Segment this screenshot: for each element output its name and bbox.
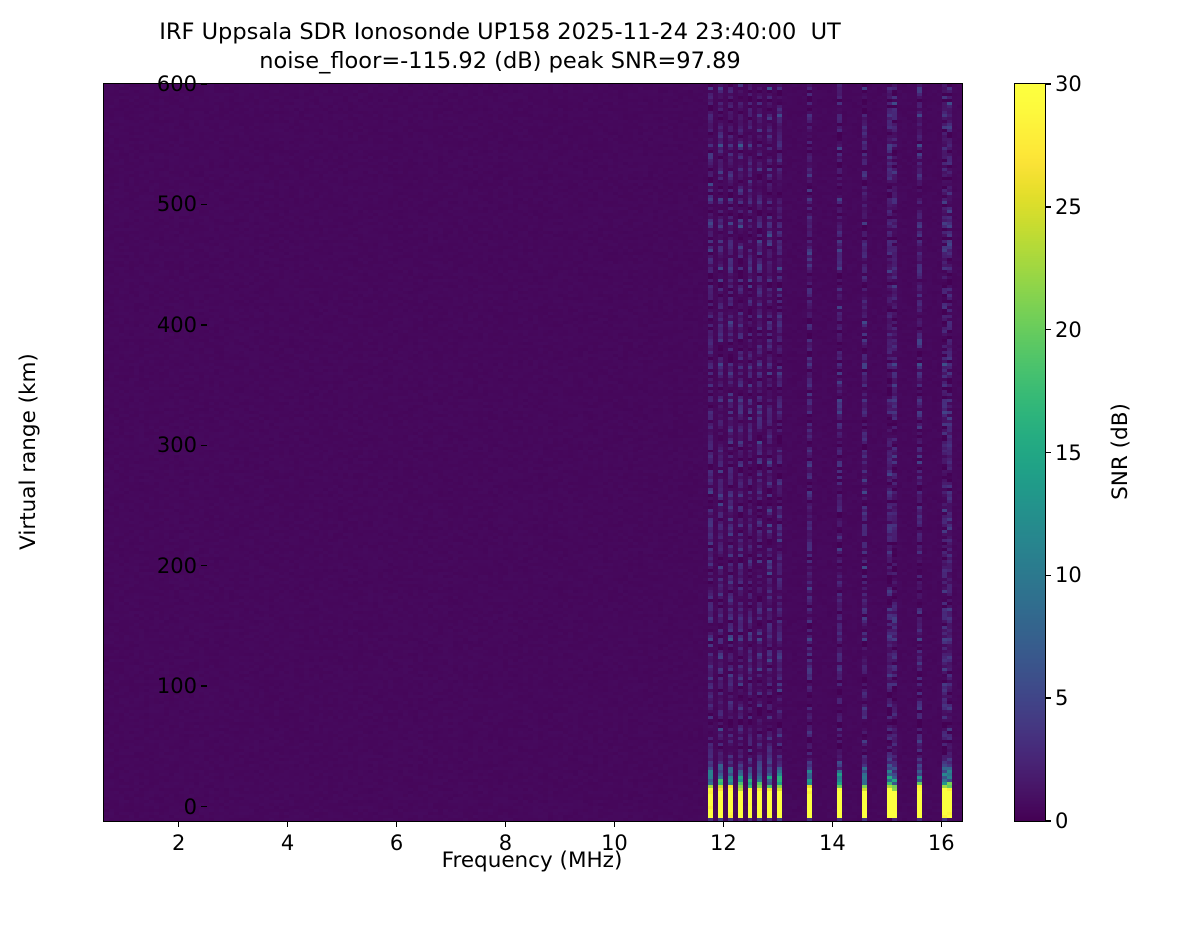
colorbar-gradient xyxy=(1015,84,1045,821)
y-tick-label: 100 xyxy=(157,672,197,700)
x-tick-mark xyxy=(396,821,397,827)
colorbar-tick-mark xyxy=(1045,697,1051,698)
colorbar-tick-label: 20 xyxy=(1055,316,1082,344)
colorbar-tick-label: 0 xyxy=(1055,807,1068,835)
x-tick-mark xyxy=(287,821,288,827)
colorbar[interactable]: 051015202530 xyxy=(1014,83,1046,822)
colorbar-tick-mark xyxy=(1045,452,1051,453)
y-tick-label: 300 xyxy=(157,431,197,459)
x-tick-mark xyxy=(614,821,615,827)
y-tick-mark xyxy=(201,445,207,446)
y-tick-label: 400 xyxy=(157,311,197,339)
y-tick-mark xyxy=(201,806,207,807)
colorbar-tick-mark xyxy=(1045,206,1051,207)
ionogram-figure: IRF Uppsala SDR Ionosonde UP158 2025-11-… xyxy=(0,0,1200,900)
colorbar-tick-label: 30 xyxy=(1055,70,1082,98)
figure-title: IRF Uppsala SDR Ionosonde UP158 2025-11-… xyxy=(0,18,1000,77)
x-tick-mark xyxy=(832,821,833,827)
colorbar-tick-mark xyxy=(1045,329,1051,330)
colorbar-tick-mark xyxy=(1045,83,1051,84)
x-tick-mark xyxy=(505,821,506,827)
ionogram-heatmap[interactable] xyxy=(104,84,962,821)
y-tick-label: 500 xyxy=(157,190,197,218)
y-tick-mark xyxy=(201,324,207,325)
x-axis-label: Frequency (MHz) xyxy=(103,848,961,873)
colorbar-label: SNR (dB) xyxy=(1106,83,1136,820)
y-axis-ticks: 0100200300400500600 xyxy=(104,84,207,821)
colorbar-tick-mark xyxy=(1045,575,1051,576)
colorbar-tick-mark xyxy=(1045,820,1051,821)
y-tick-label: 200 xyxy=(157,552,197,580)
colorbar-tick-label: 25 xyxy=(1055,193,1082,221)
x-tick-mark xyxy=(941,821,942,827)
title-line-1: IRF Uppsala SDR Ionosonde UP158 2025-11-… xyxy=(0,18,1000,47)
y-tick-mark xyxy=(201,565,207,566)
y-tick-mark xyxy=(201,204,207,205)
x-axis-ticks: 246810121416 xyxy=(104,821,962,941)
x-tick-mark xyxy=(178,821,179,827)
y-tick-label: 0 xyxy=(184,793,197,821)
y-tick-mark xyxy=(201,685,207,686)
title-line-2: noise_floor=-115.92 (dB) peak SNR=97.89 xyxy=(0,47,1000,76)
colorbar-tick-label: 10 xyxy=(1055,561,1082,589)
y-tick-label: 600 xyxy=(157,70,197,98)
y-axis-label: Virtual range (km) xyxy=(14,83,44,820)
y-tick-mark xyxy=(201,83,207,84)
colorbar-tick-label: 15 xyxy=(1055,439,1082,467)
x-tick-mark xyxy=(723,821,724,827)
ionogram-axes[interactable]: 0100200300400500600 246810121416 xyxy=(103,83,963,822)
colorbar-tick-label: 5 xyxy=(1055,684,1068,712)
